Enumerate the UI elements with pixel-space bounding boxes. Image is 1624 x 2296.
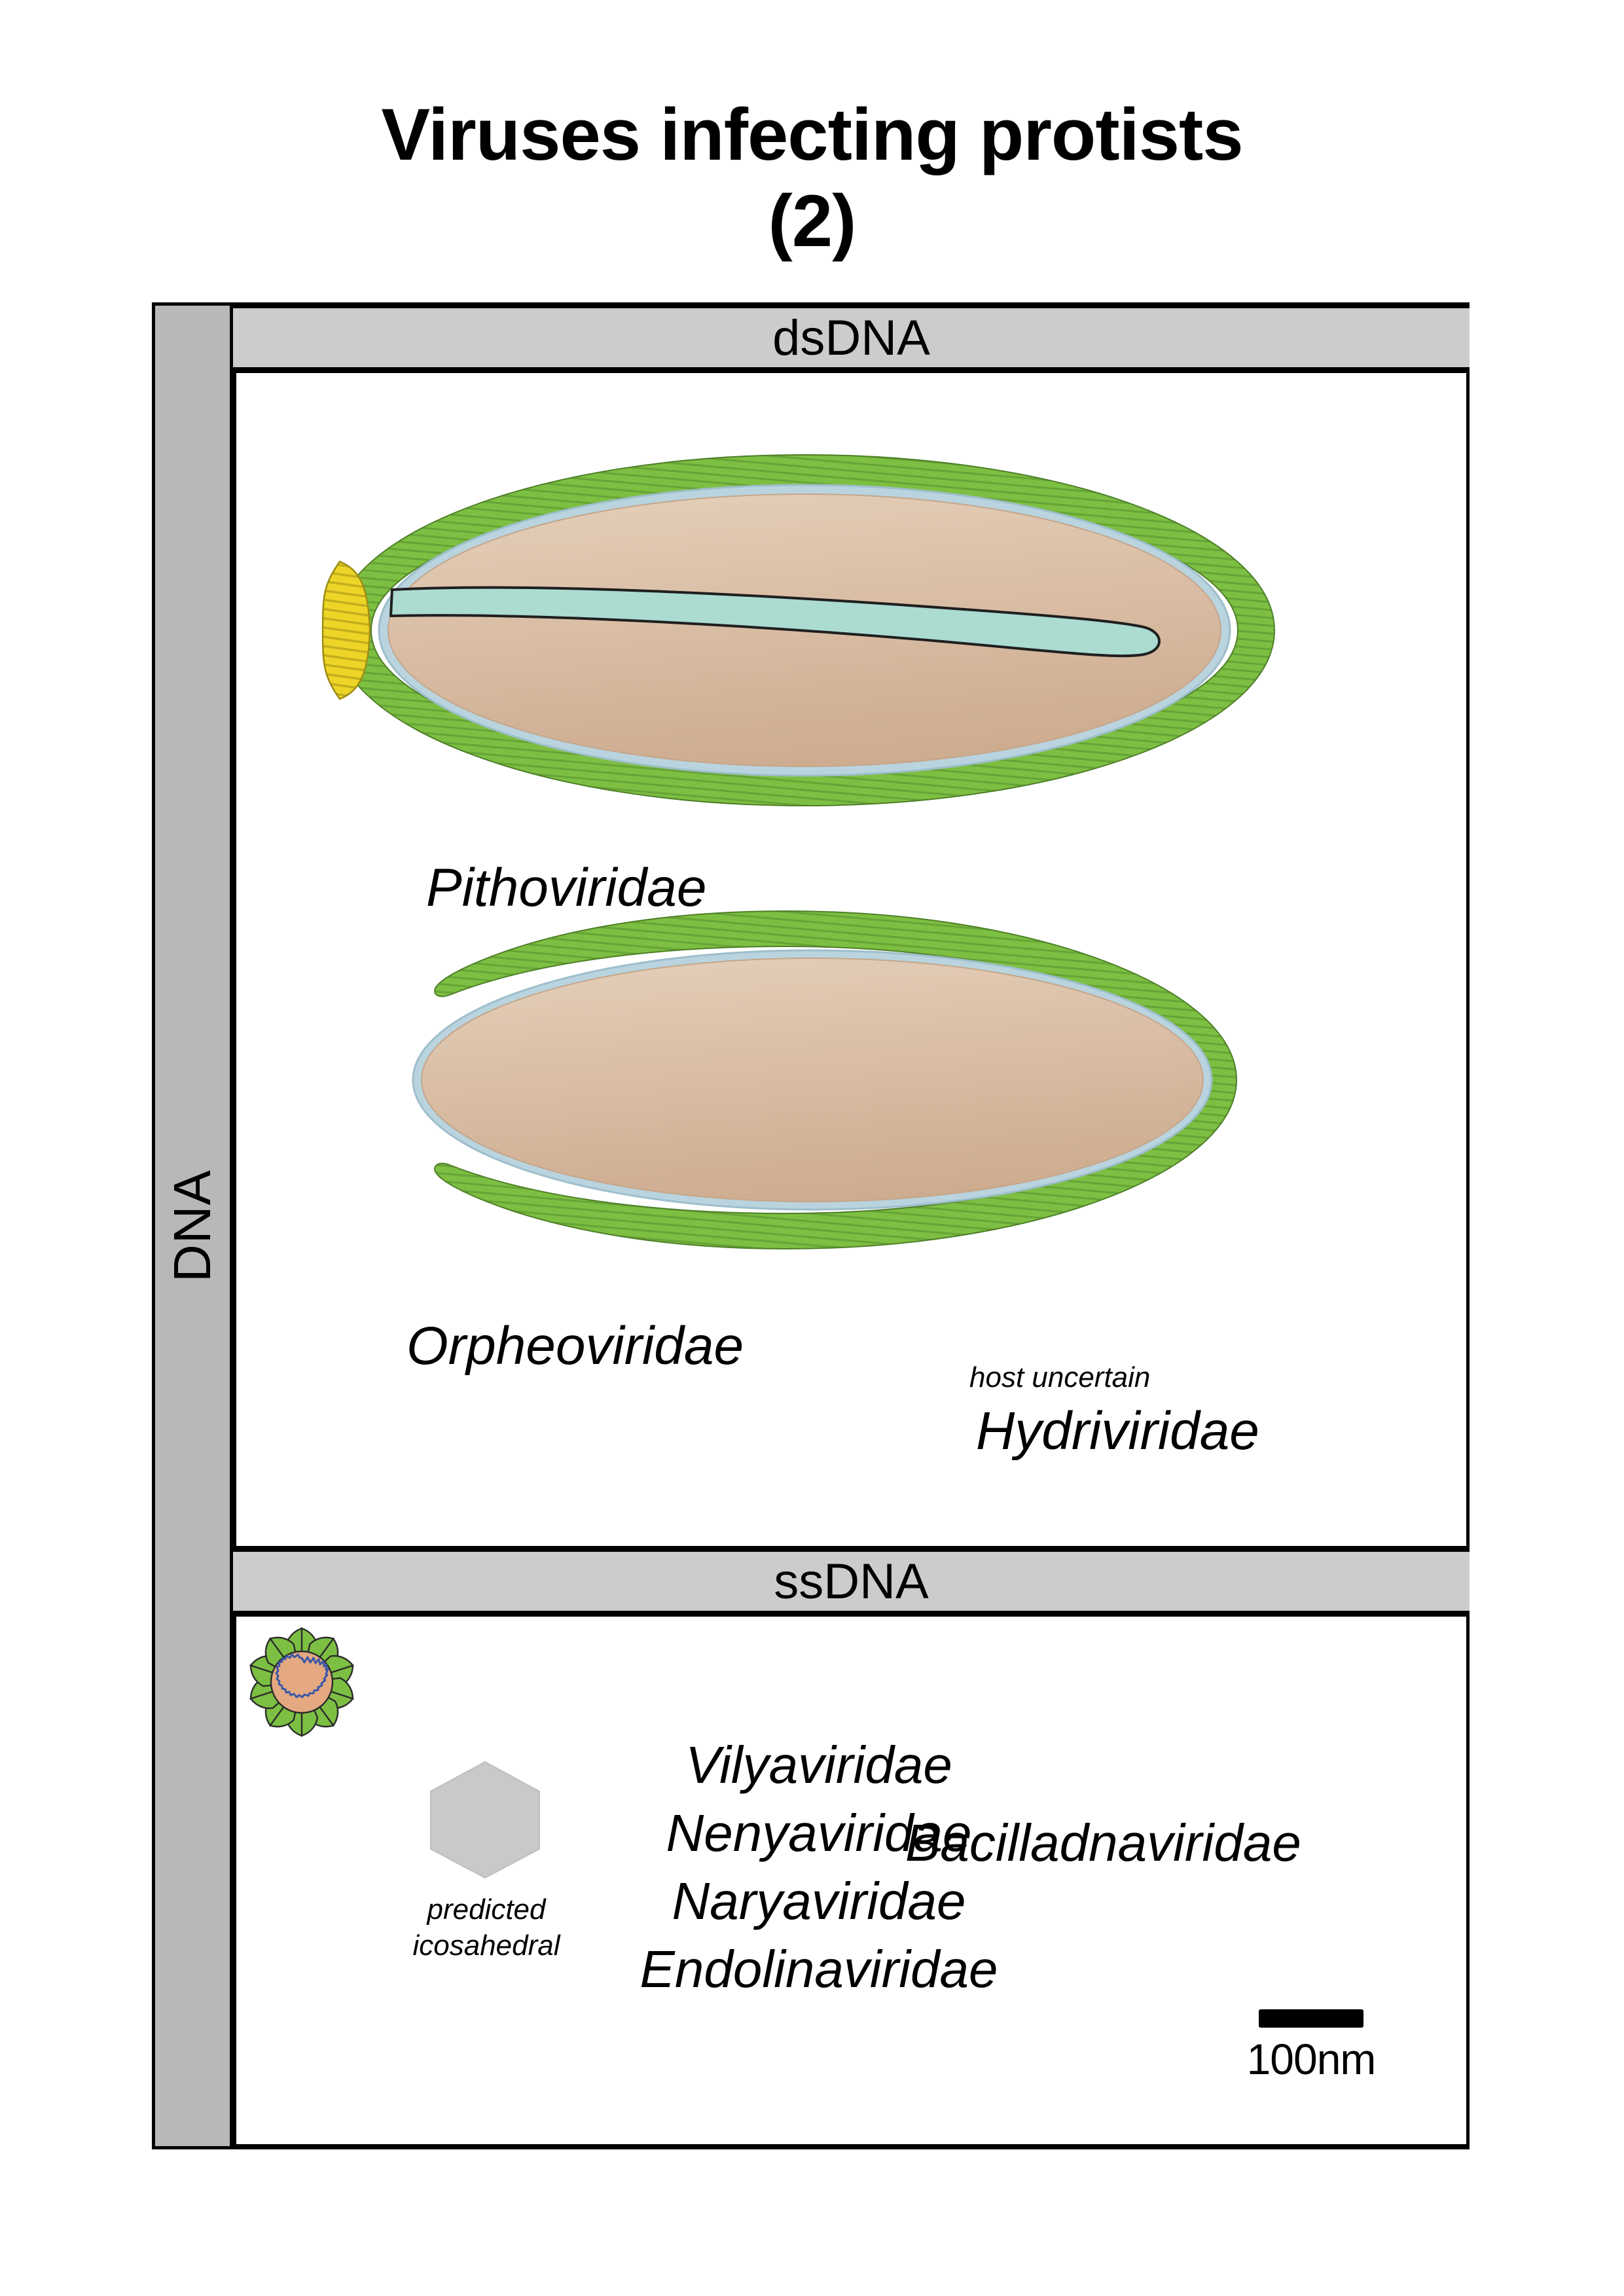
figure-title-line1: Viruses infecting protists (381, 94, 1242, 175)
virus-label-naryaviridae: Naryaviridae (590, 1867, 1048, 1935)
virus-label-orpheoviridae: Orpheoviridae (406, 1316, 744, 1377)
section-header-ssdna: ssDNA (233, 1546, 1470, 1617)
section-header-dsdna: dsDNA (233, 302, 1470, 373)
figure-title-line2: (2) (0, 178, 1624, 264)
virus-label-bacilladnaviridae: Bacilladnaviridae (905, 1813, 1301, 1873)
orpheoviridae-core (422, 958, 1203, 1202)
scale-bar-label: 100nm (1226, 2034, 1396, 2084)
genome-type-rail: DNA (152, 302, 233, 2149)
figure-title: Viruses infecting protists (2) (0, 92, 1624, 264)
predicted-icosahedral-caption: predicted icosahedral (395, 1892, 578, 1964)
virus-label-hydriviridae: Hydriviridae (976, 1401, 1259, 1462)
genome-panel-stack: dsDNA (233, 302, 1470, 2149)
orpheoviridae-particle (354, 897, 1257, 1263)
section-body-ssdna: predicted icosahedral Vilyaviridae Nenya… (233, 1617, 1470, 2149)
virus-label-endolinaviridae: Endolinaviridae (590, 1935, 1048, 2003)
predicted-icosahedral-hexagon (426, 1759, 544, 1880)
predicted-icosahedral-caption-line2: icosahedral (395, 1928, 578, 1964)
figure-frame: DNA dsDNA (152, 302, 1470, 2149)
section-header-ssdna-label: ssDNA (774, 1553, 928, 1610)
predicted-icosahedral-caption-line1: predicted (395, 1892, 578, 1928)
bacilladnaviridae-particle (236, 1617, 367, 1748)
pithoviridae-particle (314, 431, 1295, 836)
genome-rail-label: DNA (162, 1170, 223, 1282)
section-header-dsdna-label: dsDNA (772, 310, 930, 367)
scale-bar-rule (1259, 2009, 1363, 2028)
host-uncertain-note: host uncertain (969, 1361, 1150, 1394)
virus-label-vilyaviridae: Vilyaviridae (590, 1731, 1048, 1799)
scale-bar: 100nm (1226, 2009, 1396, 2084)
section-body-dsdna: Pithoviridae Orpheoviridae host uncertai… (233, 373, 1470, 1546)
virus-label-pithoviridae: Pithoviridae (426, 857, 706, 919)
